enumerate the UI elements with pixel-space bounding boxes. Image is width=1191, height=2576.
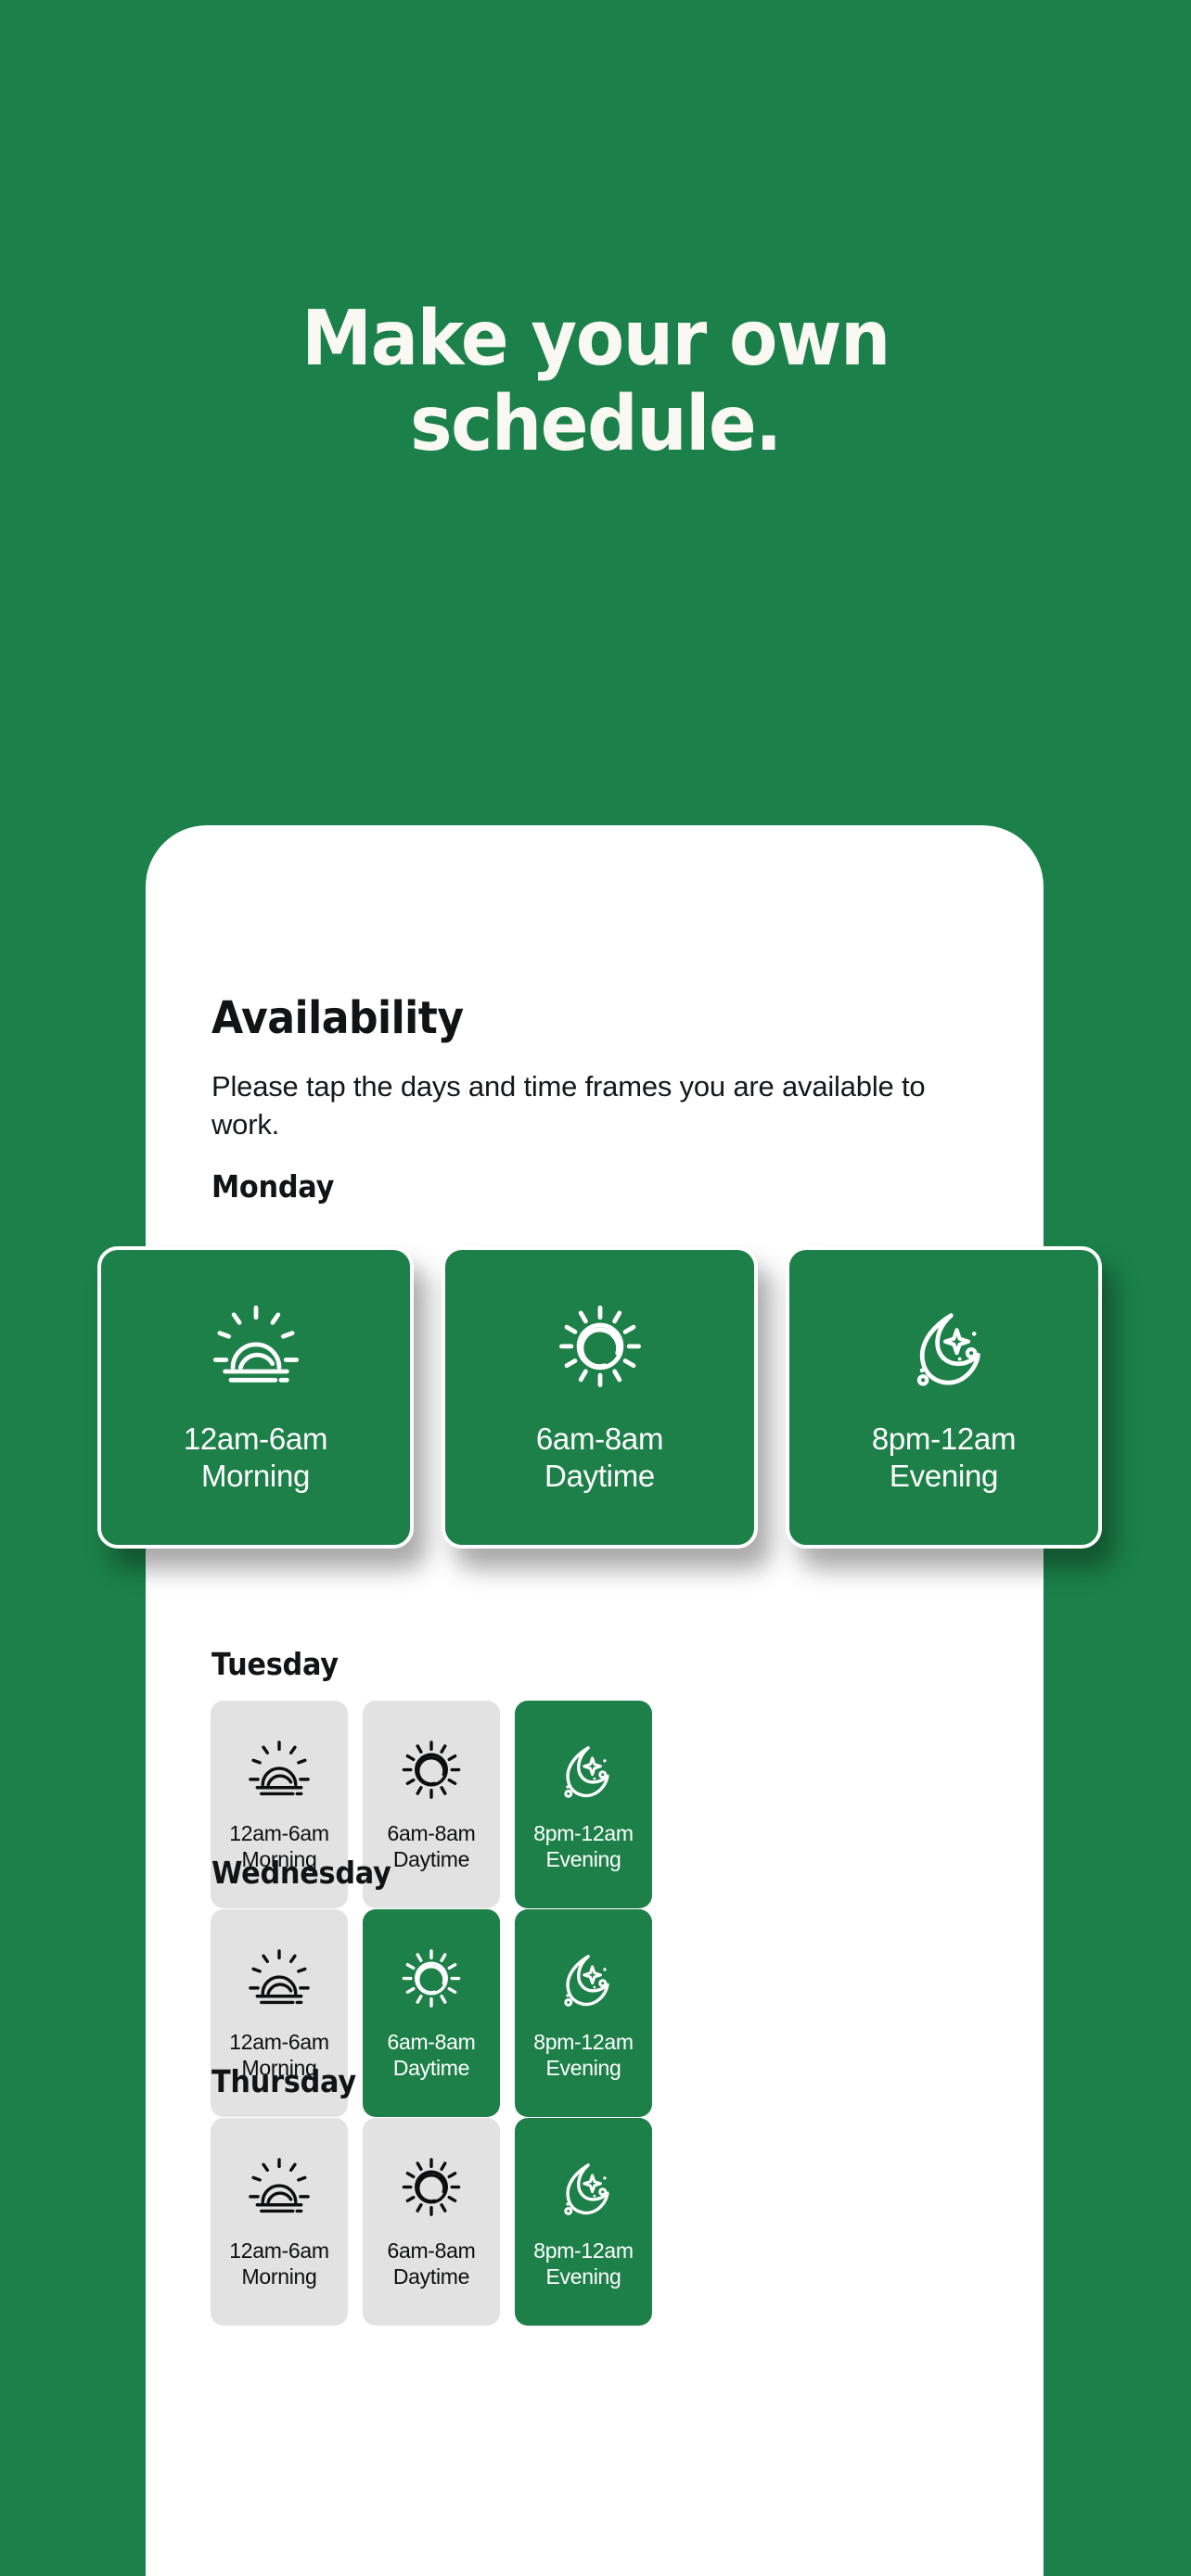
time-slot-time: 12am-6am bbox=[229, 1820, 329, 1846]
hero-title-line1: Make your own bbox=[171, 297, 1019, 382]
time-slot-time: 12am-6am bbox=[184, 1421, 327, 1458]
availability-sheet: Availability Please tap the days and tim… bbox=[146, 825, 1044, 2576]
sunrise-icon bbox=[245, 1945, 314, 2014]
day-label: Tuesday bbox=[211, 1646, 339, 1682]
time-slot-name: Morning bbox=[242, 2264, 317, 2289]
page-subtitle: Please tap the days and time frames you … bbox=[211, 1068, 972, 1144]
time-slot-row: 12am-6amMorning 6am-8amDaytime 8pm-12amE… bbox=[97, 1246, 1103, 1549]
time-slot-row: 12am-6amMorning 6am-8amDaytime 8pm-12amE… bbox=[146, 2118, 1044, 2326]
day-label: Thursday bbox=[211, 2063, 356, 2099]
moon-icon bbox=[896, 1300, 992, 1396]
day-label: Wednesday bbox=[211, 1855, 391, 1891]
time-slot-time: 8pm-12am bbox=[872, 1421, 1016, 1458]
time-slot-name: Daytime bbox=[393, 2264, 469, 2289]
time-slot-thursday-daytime[interactable]: 6am-8amDaytime bbox=[363, 2118, 500, 2326]
hero-headline: Make your own schedule. bbox=[0, 297, 1191, 467]
time-slot-time: 8pm-12am bbox=[533, 1820, 634, 1846]
time-slot-time: 12am-6am bbox=[229, 2238, 329, 2264]
hero-title-line2: schedule. bbox=[171, 382, 1019, 467]
time-slot-time: 6am-8am bbox=[387, 2238, 475, 2264]
moon-icon bbox=[549, 2154, 618, 2223]
sun-icon bbox=[397, 2154, 466, 2223]
page-title: Availability bbox=[211, 992, 464, 1044]
time-slot-time: 8pm-12am bbox=[533, 2238, 634, 2264]
sunrise-icon bbox=[245, 1737, 314, 1805]
moon-icon bbox=[549, 1737, 618, 1805]
time-slot-time: 6am-8am bbox=[536, 1421, 663, 1458]
time-slot-name: Daytime bbox=[544, 1458, 655, 1495]
day-block-thursday: Thursday 12am-6amMorning 6am-8amDaytime … bbox=[146, 2063, 1044, 2326]
time-slot-monday-evening[interactable]: 8pm-12amEvening bbox=[786, 1246, 1102, 1549]
sun-icon bbox=[397, 1945, 466, 2014]
time-slot-monday-morning[interactable]: 12am-6amMorning bbox=[97, 1246, 414, 1549]
time-slot-thursday-evening[interactable]: 8pm-12amEvening bbox=[515, 2118, 652, 2326]
time-slot-time: 12am-6am bbox=[229, 2029, 329, 2055]
day-label: Monday bbox=[211, 1168, 334, 1205]
time-slot-name: Evening bbox=[890, 1458, 998, 1495]
sun-icon bbox=[397, 1737, 466, 1805]
time-slot-name: Evening bbox=[545, 2264, 621, 2289]
time-slot-time: 8pm-12am bbox=[533, 2029, 634, 2055]
time-slot-name: Morning bbox=[201, 1458, 310, 1495]
sun-icon bbox=[552, 1300, 648, 1396]
moon-icon bbox=[549, 1945, 618, 2014]
time-slot-time: 6am-8am bbox=[387, 2029, 475, 2055]
time-slot-thursday-morning[interactable]: 12am-6amMorning bbox=[211, 2118, 348, 2326]
time-slot-monday-daytime[interactable]: 6am-8amDaytime bbox=[442, 1246, 758, 1549]
sunrise-icon bbox=[245, 2154, 314, 2223]
time-slot-time: 6am-8am bbox=[387, 1820, 475, 1846]
day-block-monday: Monday 12am-6amMorning 6am-8amDaytime 8p… bbox=[146, 1168, 1044, 1205]
sunrise-icon bbox=[208, 1300, 304, 1396]
